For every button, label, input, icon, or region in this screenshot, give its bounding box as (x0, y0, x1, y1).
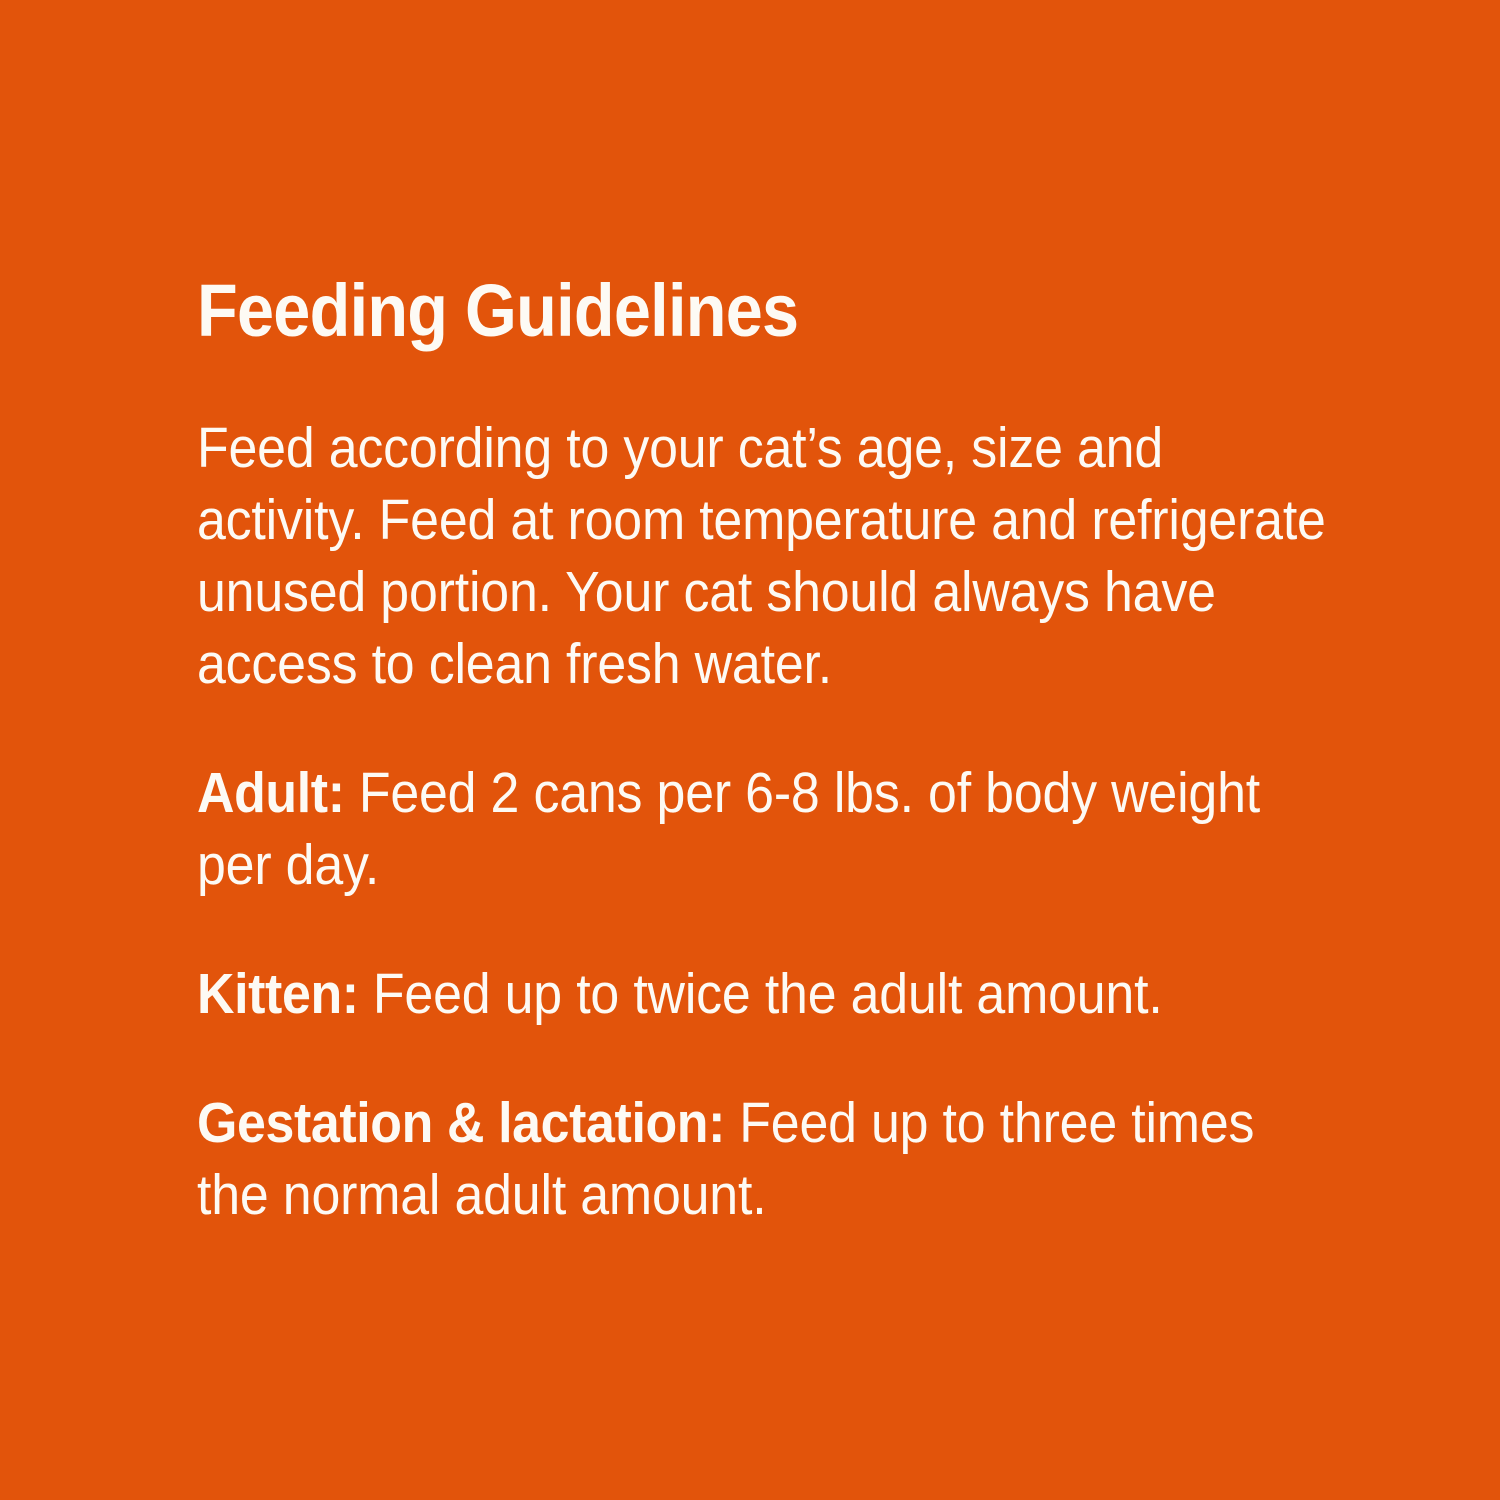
adult-text: Feed 2 cans per 6-8 lbs. of body weight … (197, 761, 1260, 897)
kitten-feeding-paragraph: Kitten: Feed up to twice the adult amoun… (197, 958, 1339, 1030)
page-title: Feeding Guidelines (197, 268, 1232, 354)
feeding-guidelines-panel: Feeding Guidelines Feed according to you… (0, 0, 1500, 1500)
adult-feeding-paragraph: Adult: Feed 2 cans per 6-8 lbs. of body … (197, 757, 1339, 901)
gestation-label: Gestation & lactation: (197, 1091, 725, 1155)
gestation-lactation-paragraph: Gestation & lactation: Feed up to three … (197, 1087, 1339, 1231)
intro-paragraph: Feed according to your cat’s age, size a… (197, 412, 1339, 700)
kitten-text: Feed up to twice the adult amount. (359, 962, 1163, 1026)
panel-content: Feeding Guidelines Feed according to you… (197, 268, 1347, 1288)
adult-label: Adult: (197, 761, 345, 825)
kitten-label: Kitten: (197, 962, 359, 1026)
